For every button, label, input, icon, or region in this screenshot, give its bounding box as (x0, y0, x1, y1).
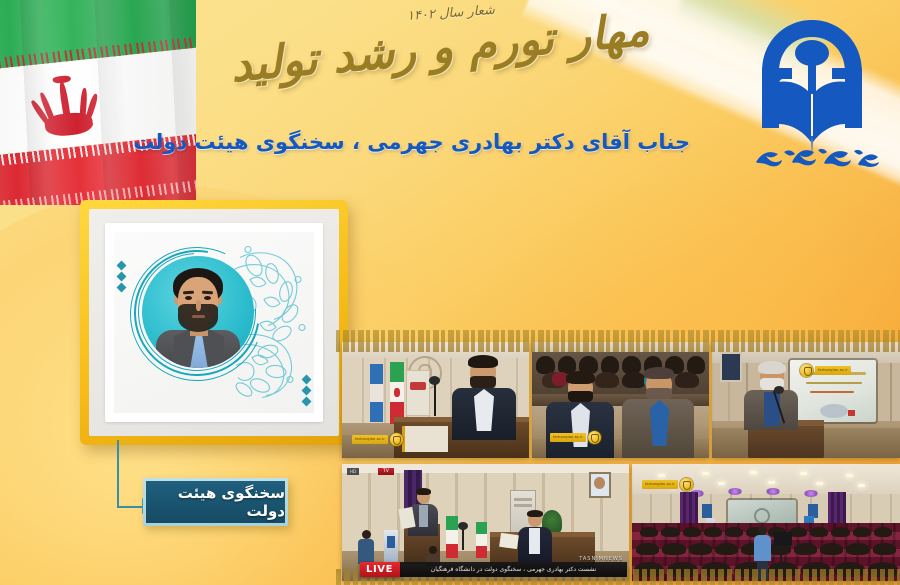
collage-row-top: farhangian.ac.ir (342, 342, 900, 458)
portrait-photo (128, 246, 256, 374)
tv-corner-label: HD (347, 468, 359, 475)
tv-channel-logo: TV (378, 468, 394, 475)
photo-speaker-podium[interactable]: farhangian.ac.ir (712, 342, 900, 458)
photo-auditorium[interactable]: farhangian.ac.ir (632, 464, 900, 581)
photo-collage: farhangian.ac.ir (342, 338, 900, 585)
portrait-canvas (114, 232, 314, 413)
portrait-frame (80, 200, 348, 445)
green-wash-accent (674, 0, 835, 78)
flag-wave-shading (0, 0, 196, 205)
portrait-circle-backdrop (142, 256, 254, 368)
flag-band-green (0, 0, 196, 73)
farhangian-university-logo (742, 6, 882, 176)
photo-guests-audience[interactable]: farhangian.ac.ir (532, 342, 709, 458)
caption-connector-line (117, 440, 119, 508)
iran-flag (0, 0, 196, 205)
diamond-accent-3 (117, 283, 127, 293)
live-badge: LIVE (360, 562, 401, 577)
diamond-accent-2 (117, 272, 127, 282)
portrait-inner-frame (105, 223, 323, 422)
event-poster: شعار سال ۱۴۰۲ مهار تورم و رشد تولید جناب… (0, 0, 900, 585)
photo-spokesperson-desk[interactable]: farhangian.ac.ir (342, 342, 529, 458)
caption-label: سخنگوی هیئت دولت (146, 484, 285, 520)
caption-connector-elbow (117, 506, 145, 508)
collage-row-bottom: farhangian.ac.ir (342, 464, 900, 581)
portrait-mat (89, 209, 339, 436)
flag-kufic-top (0, 33, 196, 73)
allah-emblem (33, 75, 98, 136)
status-badge: سخنگوی هیئت دولت (143, 478, 288, 526)
photo-live-broadcast[interactable]: HD TV TASNIMNEWS LIVE نشست دکتر بهادری ج… (342, 464, 629, 581)
flag-wave-highlight (0, 0, 196, 205)
news-ticker: نشست دکتر بهادری جهرمی ، سخنگوی دولت در … (400, 562, 627, 577)
page-title: جناب آقای دکتر بهادری جهرمی ، سخنگوی هیئ… (210, 130, 690, 154)
diamond-accent-1 (117, 261, 127, 271)
portrait-person-figure (142, 256, 254, 368)
